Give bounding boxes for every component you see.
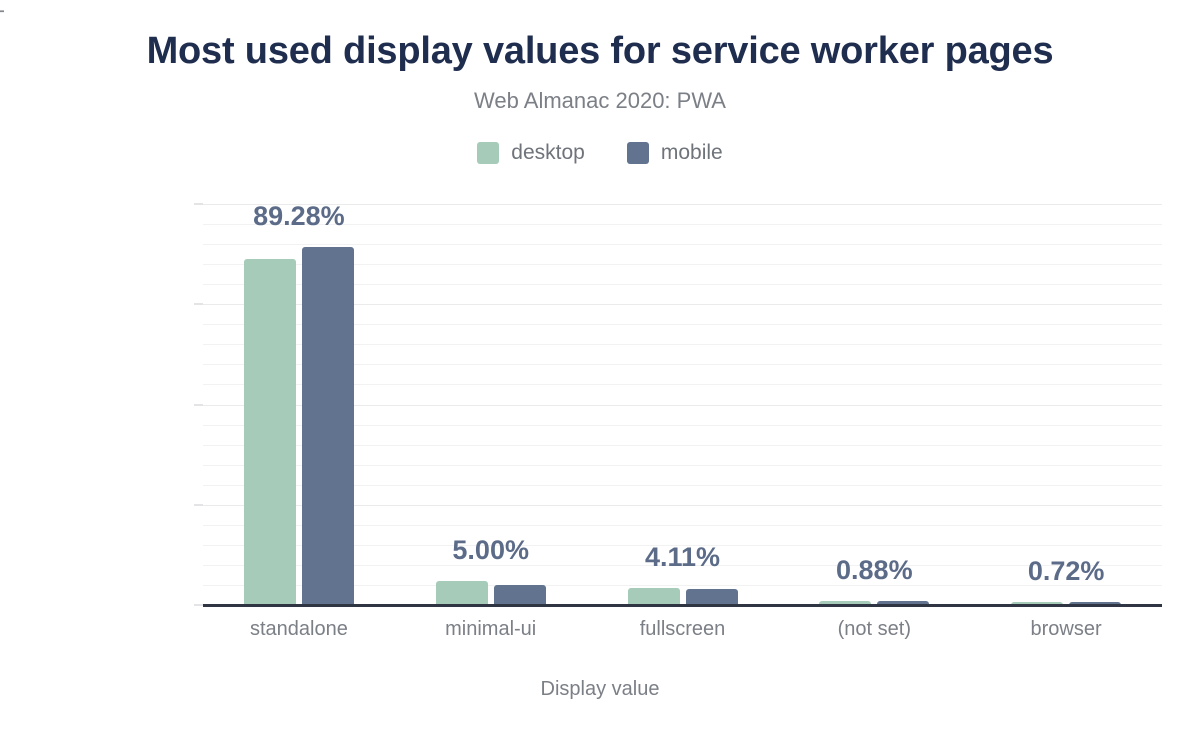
data-label-fullscreen: 4.11% (645, 542, 720, 573)
x-axis-title: Display value (0, 678, 1200, 701)
chart-legend: desktopmobile (0, 141, 1200, 165)
gridline (203, 204, 1162, 205)
legend-label: desktop (511, 141, 585, 165)
gridline (203, 244, 1162, 245)
x-axis-tick-label-minimal-ui: minimal-ui (445, 618, 536, 641)
chart-subtitle: Web Almanac 2020: PWA (0, 88, 1200, 114)
bar-mobile-standalone[interactable] (302, 247, 354, 605)
legend-item-desktop[interactable]: desktop (477, 141, 585, 165)
y-axis-title: Percent of Service Worker pages (0, 0, 6, 240)
data-label-(not set): 0.88% (836, 555, 913, 586)
data-label-minimal-ui: 5.00% (452, 535, 529, 566)
bar-desktop-standalone[interactable] (244, 259, 296, 605)
legend-item-mobile[interactable]: mobile (627, 141, 723, 165)
bar-mobile-minimal-ui[interactable] (494, 585, 546, 605)
y-axis-tick-mark (194, 404, 203, 405)
y-axis-tick-mark (194, 304, 203, 305)
gridline (203, 224, 1162, 225)
y-axis-tick-mark (194, 504, 203, 505)
x-axis-tick-label-browser: browser (1031, 618, 1102, 641)
data-label-browser: 0.72% (1028, 556, 1105, 587)
x-axis-tick-label-(not set): (not set) (838, 618, 911, 641)
legend-label: mobile (661, 141, 723, 165)
legend-swatch-mobile (627, 142, 649, 164)
data-label-standalone: 89.28% (253, 201, 345, 232)
chart-title: Most used display values for service wor… (0, 30, 1200, 73)
legend-swatch-desktop (477, 142, 499, 164)
x-axis-tick-label-standalone: standalone (250, 618, 348, 641)
x-axis-baseline (203, 604, 1162, 607)
bar-mobile-fullscreen[interactable] (686, 589, 738, 605)
bar-desktop-fullscreen[interactable] (628, 588, 680, 605)
x-axis-tick-label-fullscreen: fullscreen (640, 618, 726, 641)
y-axis-tick-mark (194, 204, 203, 205)
bar-chart: Most used display values for service wor… (0, 0, 1200, 742)
bar-desktop-minimal-ui[interactable] (436, 581, 488, 605)
y-axis-tick-mark (194, 605, 203, 606)
